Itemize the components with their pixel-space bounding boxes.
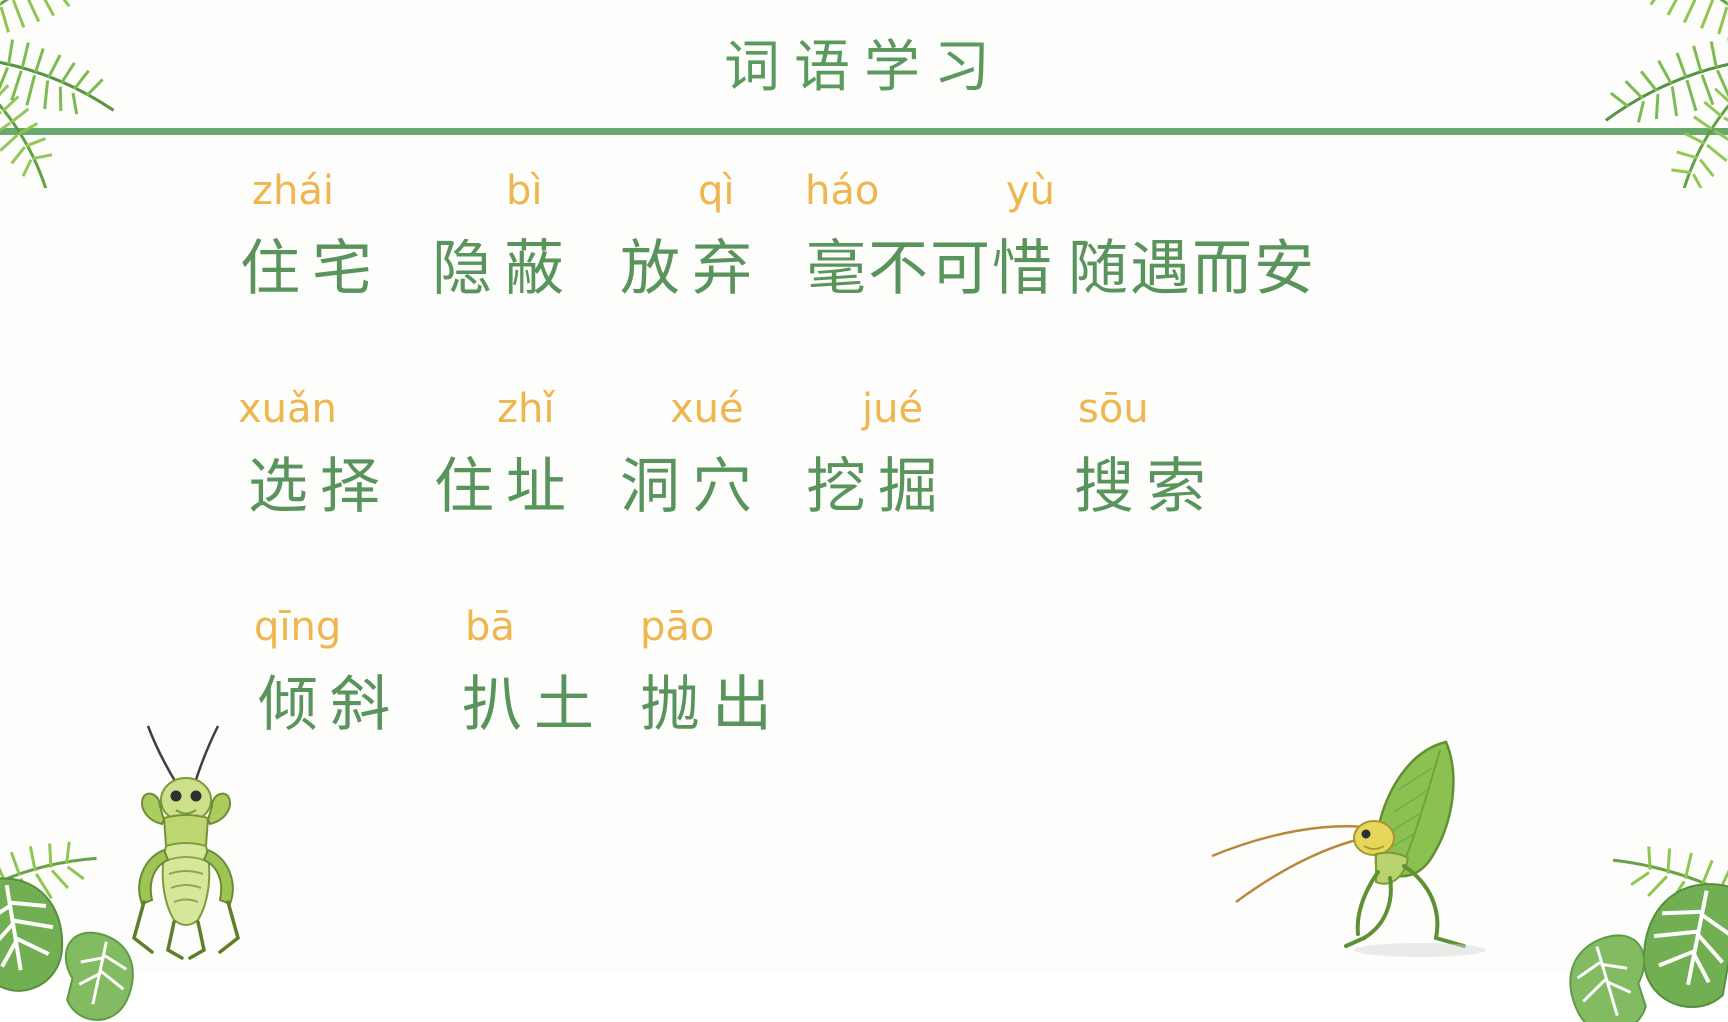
- title-bar: 词语学习: [0, 0, 1728, 138]
- vocabulary-word: 住宅: [240, 220, 384, 307]
- vocabulary-row: xuǎn zhǐ xué jué sōu 选择 住址 洞穴 挖掘 搜索: [0, 368, 1728, 586]
- vocabulary-word: 随遇而安: [1068, 220, 1316, 307]
- pinyin-line: qīng bā pāo: [0, 586, 1728, 664]
- vocabulary-word: 洞穴: [620, 438, 764, 525]
- pinyin-label: qì: [698, 168, 735, 214]
- pinyin-label: jué: [862, 386, 923, 432]
- vocabulary-row: qīng bā pāo 倾斜 扒土 抛出: [0, 586, 1728, 804]
- vocabulary-word: 选择: [248, 438, 392, 525]
- pinyin-line: xuǎn zhǐ xué jué sōu: [0, 368, 1728, 446]
- pinyin-label: pāo: [640, 604, 714, 650]
- vocabulary-word: 挖掘: [806, 438, 950, 525]
- pinyin-label: zhái: [252, 168, 334, 214]
- pinyin-label: qīng: [254, 604, 341, 650]
- pinyin-label: bì: [506, 168, 543, 214]
- vocabulary-word: 毫不可惜: [806, 220, 1054, 307]
- pinyin-line: zhái bì qì háo yù: [0, 150, 1728, 228]
- vocabulary-word: 放弃: [620, 220, 764, 307]
- vocabulary-word: 搜索: [1074, 438, 1218, 525]
- pinyin-label: xué: [670, 386, 744, 432]
- vocabulary-row: zhái bì qì háo yù 住宅 隐蔽 放弃 毫不可惜 随遇而安: [0, 150, 1728, 368]
- monstera-leaf-cluster-bottom-right-icon: [1408, 782, 1728, 1022]
- title-divider-rule: [0, 128, 1728, 135]
- vocabulary-area: zhái bì qì háo yù 住宅 隐蔽 放弃 毫不可惜 随遇而安 xuǎ…: [0, 150, 1728, 804]
- hanzi-line: 住宅 隐蔽 放弃 毫不可惜 随遇而安: [0, 220, 1728, 316]
- pinyin-label: bā: [465, 604, 515, 650]
- pinyin-label: háo: [805, 168, 879, 214]
- hanzi-line: 选择 住址 洞穴 挖掘 搜索: [0, 438, 1728, 534]
- vocabulary-word: 隐蔽: [432, 220, 576, 307]
- vocabulary-word: 抛出: [640, 656, 784, 743]
- vocabulary-word: 住址: [434, 438, 578, 525]
- vocabulary-word: 倾斜: [258, 656, 402, 743]
- page-title: 词语学习: [0, 22, 1728, 103]
- vocabulary-word: 扒土: [462, 656, 606, 743]
- pinyin-label: zhǐ: [497, 386, 554, 432]
- pinyin-label: sōu: [1078, 386, 1149, 432]
- pinyin-label: yù: [1006, 168, 1055, 214]
- pinyin-label: xuǎn: [238, 386, 337, 432]
- hanzi-line: 倾斜 扒土 抛出: [0, 656, 1728, 752]
